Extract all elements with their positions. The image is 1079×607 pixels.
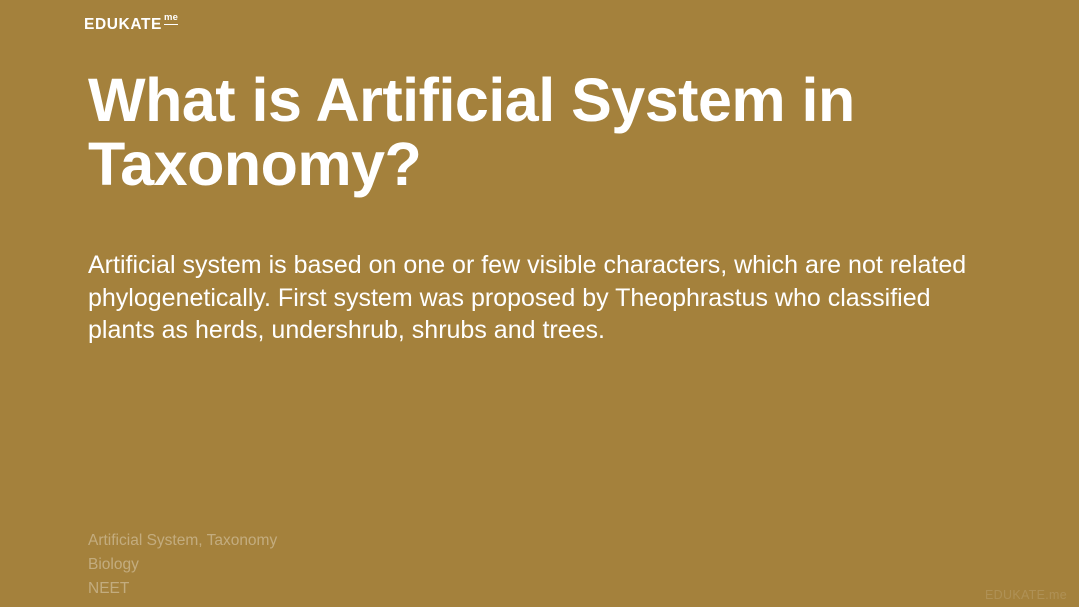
corner-watermark: EDUKATE.me <box>985 588 1067 602</box>
edukate-logo[interactable]: EDUKATE me <box>84 13 178 33</box>
footer-subject: Biology <box>88 553 277 577</box>
logo-superscript-me: me <box>164 13 178 25</box>
logo-wordmark: EDUKATE <box>84 13 162 33</box>
slide: EDUKATE me What is Artificial System in … <box>0 0 1079 607</box>
footer-exam: NEET <box>88 577 277 601</box>
page-title: What is Artificial System in Taxonomy? <box>88 68 948 196</box>
footer-meta: Artificial System, Taxonomy Biology NEET <box>88 529 277 601</box>
footer-topics: Artificial System, Taxonomy <box>88 529 277 553</box>
body-paragraph: Artificial system is based on one or few… <box>88 249 1000 347</box>
